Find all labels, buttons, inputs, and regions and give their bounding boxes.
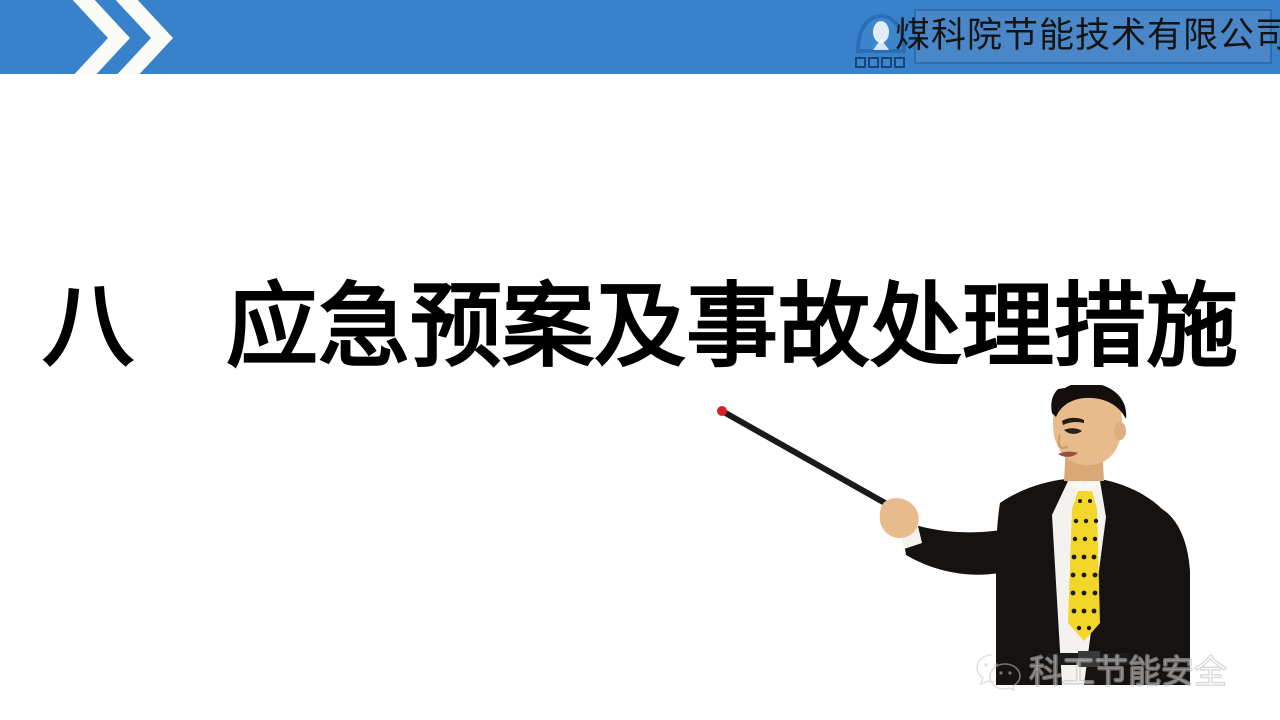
page-title: 八 应急预案及事故处理措施 xyxy=(0,272,1280,380)
chevron-right-icon xyxy=(99,0,173,74)
presentation-slide: 煤科院节能技术有限公司 八 应急预案及事故处理措施 xyxy=(0,0,1280,720)
company-name-box[interactable]: 煤科院节能技术有限公司 xyxy=(914,9,1272,64)
wechat-watermark: 科工节能安全 xyxy=(975,647,1245,695)
presenter-photo xyxy=(700,385,1220,685)
company-name-label: 煤科院节能技术有限公司 xyxy=(895,19,1280,54)
wechat-account-label: 科工节能安全 xyxy=(1029,655,1227,688)
wechat-icon xyxy=(975,651,1021,691)
slide-header-bar: 煤科院节能技术有限公司 xyxy=(0,0,1280,74)
